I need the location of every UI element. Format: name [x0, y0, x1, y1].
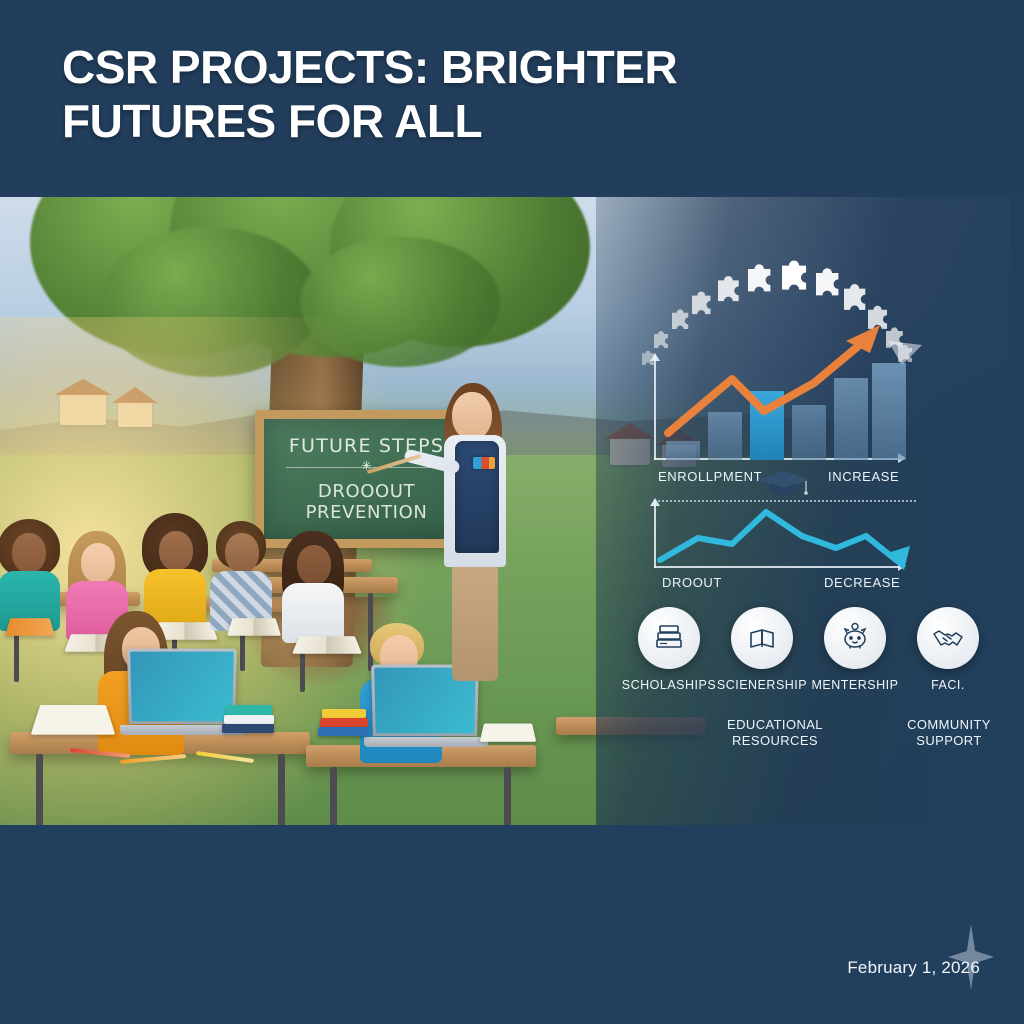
open-book-icon: [731, 607, 793, 669]
student-head: [225, 533, 259, 573]
blackboard-line-2: DROOOUT PREVENTION: [264, 481, 469, 523]
laptop-screen-glow: [130, 652, 234, 722]
student-book: [227, 618, 281, 636]
books-yellow: [322, 709, 366, 718]
chart-top-left-label: ENROLLPMENT: [658, 469, 762, 484]
student-book: [292, 636, 362, 654]
trend-arrow-overlay: [654, 307, 914, 467]
sub-label-educational-resources: EDUCATIONAL RESOURCES: [702, 717, 848, 750]
program-item-facilities[interactable]: FACI.: [893, 607, 1003, 692]
house-mid: [118, 401, 152, 427]
house-left: [60, 393, 106, 425]
notebook-paper-right: [480, 724, 536, 742]
page-title: CSR PROJECTS: BRIGHTER FUTURES FOR ALL: [62, 40, 782, 149]
desk-leg: [278, 754, 285, 825]
handshake-icon: [917, 607, 979, 669]
tree-canopy-4: [100, 227, 320, 377]
tree-canopy-5: [300, 237, 500, 367]
books-navy: [222, 724, 274, 733]
student-head: [81, 543, 115, 583]
blackboard-line-1: FUTURE STEPS: [264, 435, 469, 457]
slide-date: February 1, 2026: [847, 958, 980, 978]
student-head: [297, 545, 331, 585]
notebook-paper-left: [31, 705, 116, 735]
slide-canvas: CSR PROJECTS: BRIGHTER FUTURES FOR ALL F…: [0, 0, 1024, 1024]
desk-leg: [330, 767, 337, 825]
chart-bottom-right-label: DECREASE: [824, 575, 900, 590]
books-red: [320, 718, 368, 727]
chart-top-right-label: INCREASE: [828, 469, 899, 484]
slide-footer: February 1, 2026: [0, 825, 1024, 1024]
desk-leg: [368, 593, 373, 671]
outdoor-classroom-photo: FUTURE STEPS DROOOUT PREVENTION: [0, 197, 1010, 825]
books-stack-icon: [638, 607, 700, 669]
books-white: [224, 715, 274, 724]
sub-label-community-support: COMMUNITY SUPPORT: [876, 717, 1010, 750]
company-logo-badge: [473, 457, 495, 469]
student-book: [5, 618, 55, 636]
piggy-bank-icon: [824, 607, 886, 669]
dropout-line-series: [654, 500, 916, 570]
graduation-cap-icon: [756, 469, 812, 499]
enrollment-bar-chart: [654, 355, 904, 460]
books-teal: [226, 705, 272, 715]
laptop-right-base: [364, 737, 488, 747]
student-head: [12, 533, 46, 573]
program-label-facilities: FACI.: [893, 678, 1003, 692]
books-blue: [318, 727, 368, 736]
teacher-head: [452, 392, 492, 440]
student-shirt: [282, 583, 344, 643]
desk-leg: [36, 754, 43, 825]
student-head: [159, 531, 193, 571]
teacher-vest: [455, 441, 499, 553]
blackboard-divider: [286, 467, 447, 468]
four-point-star-icon: [948, 924, 994, 990]
slide-header: CSR PROJECTS: BRIGHTER FUTURES FOR ALL: [0, 0, 1024, 197]
dropout-line-chart: [654, 500, 904, 568]
laptop-left: [127, 649, 237, 725]
chart-bottom-left-label: DROOUT: [662, 575, 722, 590]
desk-leg: [504, 767, 511, 825]
infographic: ENROLLPMENT INCREASE: [596, 197, 1010, 825]
teacher-legs: [452, 563, 498, 681]
